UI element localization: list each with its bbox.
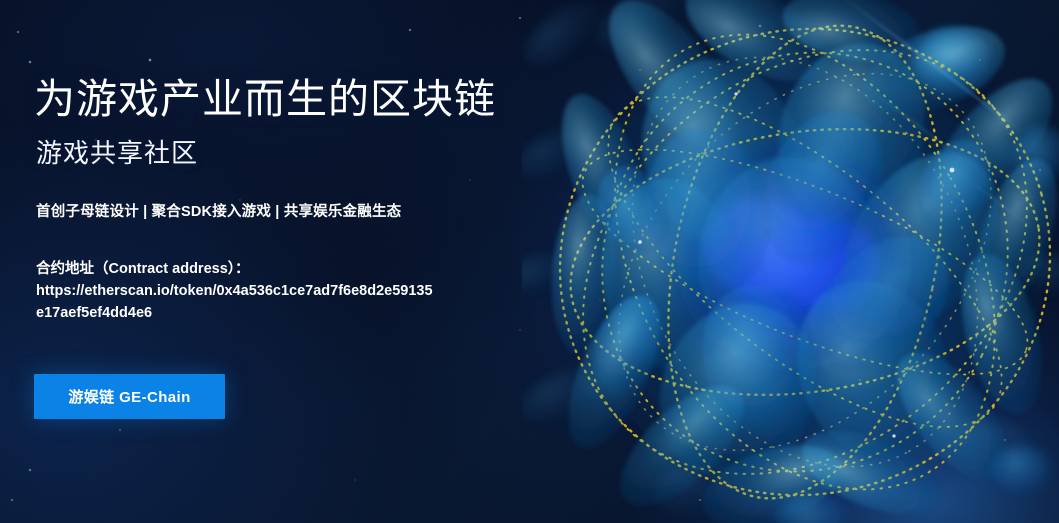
contract-address-label: 合约地址（Contract address）： — [36, 258, 436, 280]
hero-copy-column: 为游戏产业而生的区块链 游戏共享社区 首创子母链设计 | 聚合SDK接入游戏 |… — [34, 0, 504, 523]
feature-tagline: 首创子母链设计 | 聚合SDK接入游戏 | 共享娱乐金融生态 — [36, 200, 401, 221]
page-title: 为游戏产业而生的区块链 — [34, 77, 496, 123]
comet-streak-icon — [942, 160, 1039, 234]
comet-streak-icon — [841, 0, 1026, 136]
ge-chain-button[interactable]: 游娱链 GE-Chain — [34, 374, 225, 419]
page-subtitle: 游戏共享社区 — [36, 133, 198, 170]
blockchain-sphere-illustration — [522, 0, 1059, 523]
contract-address-block: 合约地址（Contract address）： https://ethersca… — [36, 258, 436, 325]
comet-streak-icon — [844, 69, 981, 173]
contract-address-link[interactable]: https://etherscan.io/token/0x4a536c1ce7a… — [36, 280, 436, 325]
hero-banner: 为游戏产业而生的区块链 游戏共享社区 首创子母链设计 | 聚合SDK接入游戏 |… — [0, 0, 1059, 523]
